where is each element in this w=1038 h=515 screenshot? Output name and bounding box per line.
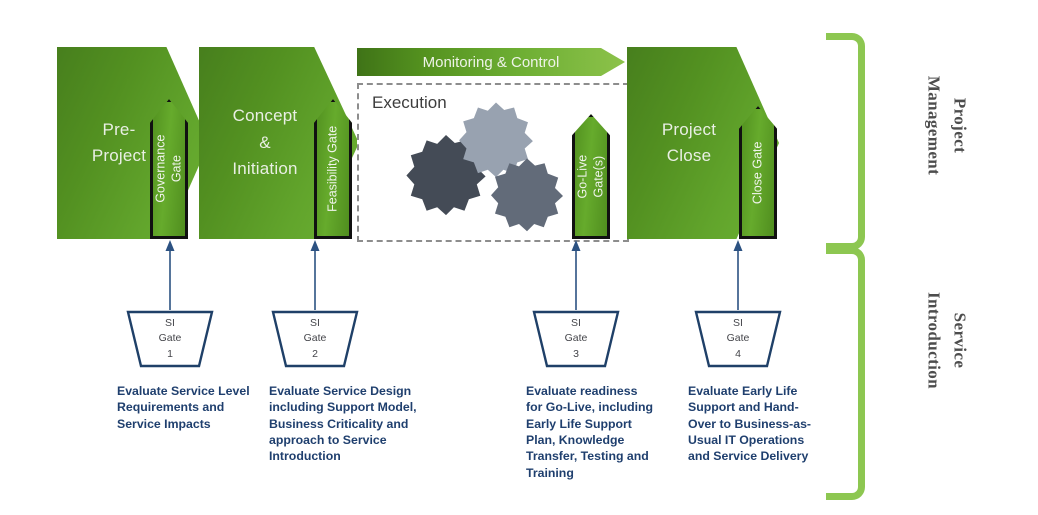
- si-gate-3-description: Evaluate readiness for Go-Live, includin…: [526, 383, 676, 481]
- si-gate-1-description: Evaluate Service Level Requirements and …: [117, 383, 267, 432]
- phase-label-line: Pre-: [92, 117, 146, 143]
- governance-gate-label: GovernanceGate: [153, 135, 184, 203]
- si-gate-2[interactable]: SI Gate 2: [271, 310, 359, 368]
- si-gate-3[interactable]: SI Gate 3: [532, 310, 620, 368]
- close-gate[interactable]: Close Gate: [739, 106, 777, 239]
- si-gate-shape: [271, 310, 359, 368]
- governance-gate[interactable]: GovernanceGate: [150, 99, 188, 239]
- lane-label-project-management: Project Management: [922, 36, 973, 216]
- phase-label-line: Project: [662, 117, 716, 143]
- phase-label-line: Concept: [232, 103, 297, 129]
- go-live-gate[interactable]: Go-LiveGate(s): [572, 114, 610, 239]
- monitoring-control-label: Monitoring & Control: [423, 54, 560, 71]
- feasibility-gate[interactable]: Feasibility Gate: [314, 99, 352, 239]
- bracket-service-introduction: [826, 247, 865, 500]
- bracket-project-management: [826, 33, 865, 250]
- si-gate-2-description: Evaluate Service Design including Suppor…: [269, 383, 437, 465]
- monitoring-control-banner[interactable]: Monitoring & Control: [357, 48, 625, 76]
- si-gate-shape: [694, 310, 782, 368]
- connector-arrow-4: [728, 239, 748, 311]
- phase-label-line: Close: [662, 143, 716, 169]
- phase-label-line: &: [232, 130, 297, 156]
- phase-label-line: Project: [92, 143, 146, 169]
- si-gate-shape: [532, 310, 620, 368]
- si-gate-shape: [126, 310, 214, 368]
- connector-arrow-2: [305, 239, 325, 311]
- execution-label: Execution: [372, 93, 447, 113]
- connector-arrow-3: [566, 239, 586, 311]
- connector-arrow-1: [160, 239, 180, 311]
- diagram-canvas: Pre- Project GovernanceGate Concept & In…: [0, 0, 1038, 515]
- phase-label-line: Initiation: [232, 156, 297, 182]
- si-gate-1[interactable]: SI Gate 1: [126, 310, 214, 368]
- lane-label-service-introduction: Service Introduction: [922, 251, 973, 431]
- feasibility-gate-label: Feasibility Gate: [325, 126, 341, 212]
- si-gate-4-description: Evaluate Early Life Support and Hand- Ov…: [688, 383, 840, 465]
- close-gate-label: Close Gate: [750, 141, 766, 204]
- si-gate-4[interactable]: SI Gate 4: [694, 310, 782, 368]
- go-live-gate-label: Go-LiveGate(s): [575, 155, 606, 199]
- gear-medium-icon: [487, 152, 567, 232]
